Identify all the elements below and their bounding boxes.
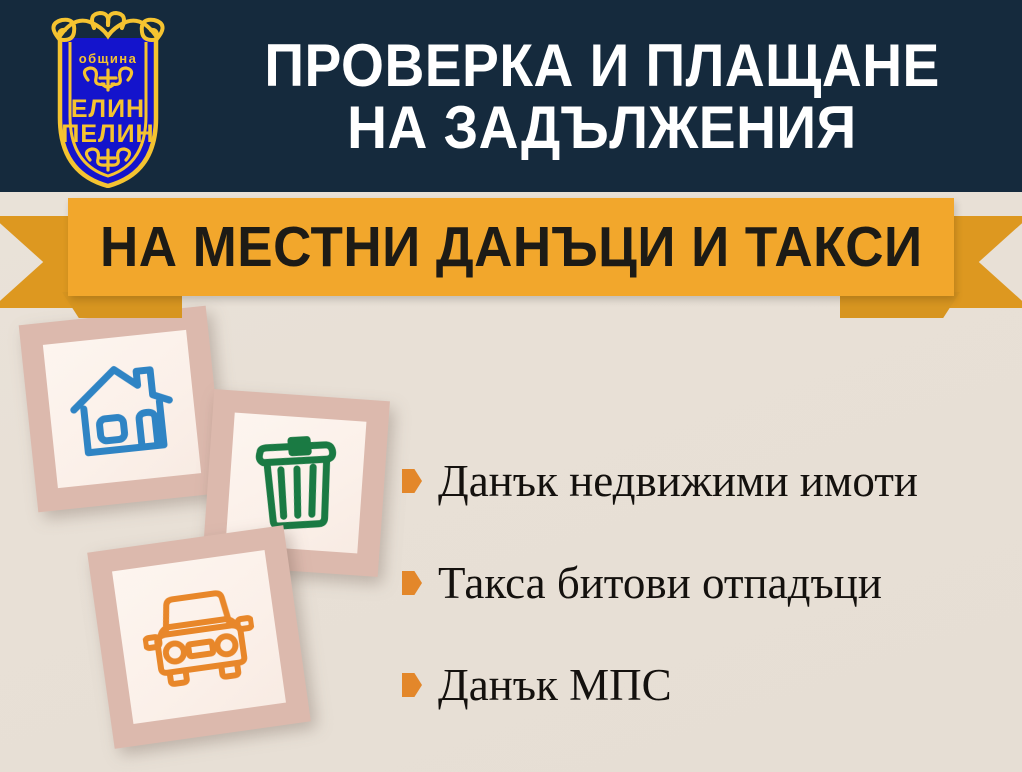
list-item-label: Данък недвижими имоти: [438, 459, 918, 504]
trash-bin-icon: [246, 428, 345, 538]
stamp-inner-face: [112, 550, 286, 724]
poster-canvas: община ЕЛИН ПЕЛИН ПРОВЕРКА И ПЛАЩАНЕ Н: [0, 0, 1022, 772]
stamp-card-vehicle: [87, 525, 311, 749]
arrow-bullet-icon: [402, 469, 422, 493]
list-item: Данък МПС: [402, 634, 1014, 736]
stamp-inner-face: [43, 330, 201, 488]
subtitle-ribbon: НА МЕСТНИ ДАНЪЦИ И ТАКСИ: [0, 196, 1022, 316]
house-icon: [63, 354, 181, 465]
ribbon-label: НА МЕСТНИ ДАНЪЦИ И ТАКСИ: [100, 214, 923, 280]
poster-title: ПРОВЕРКА И ПЛАЩАНЕ НА ЗАДЪЛЖЕНИЯ: [196, 16, 1008, 178]
car-icon: [137, 584, 261, 691]
arrow-bullet-icon: [402, 571, 422, 595]
list-item-label: Такса битови отпадъци: [438, 561, 882, 606]
title-line-1: ПРОВЕРКА И ПЛАЩАНЕ: [264, 35, 939, 97]
coat-of-arms-icon: община ЕЛИН ПЕЛИН: [28, 8, 188, 188]
logo-top-text: община: [79, 51, 137, 66]
ribbon-banner: НА МЕСТНИ ДАНЪЦИ И ТАКСИ: [68, 198, 954, 296]
stamp-card-property: [19, 306, 226, 513]
arrow-bullet-icon: [402, 673, 422, 697]
title-line-2: НА ЗАДЪЛЖЕНИЯ: [347, 97, 857, 159]
list-item: Данък недвижими имоти: [402, 430, 1014, 532]
municipality-logo: община ЕЛИН ПЕЛИН: [28, 8, 188, 188]
logo-name-line1: ЕЛИН: [71, 95, 145, 123]
tax-types-list: Данък недвижими имоти Такса битови отпад…: [402, 430, 1014, 736]
list-item-label: Данък МПС: [438, 663, 672, 708]
list-item: Такса битови отпадъци: [402, 532, 1014, 634]
logo-name-line2: ПЕЛИН: [61, 120, 154, 148]
